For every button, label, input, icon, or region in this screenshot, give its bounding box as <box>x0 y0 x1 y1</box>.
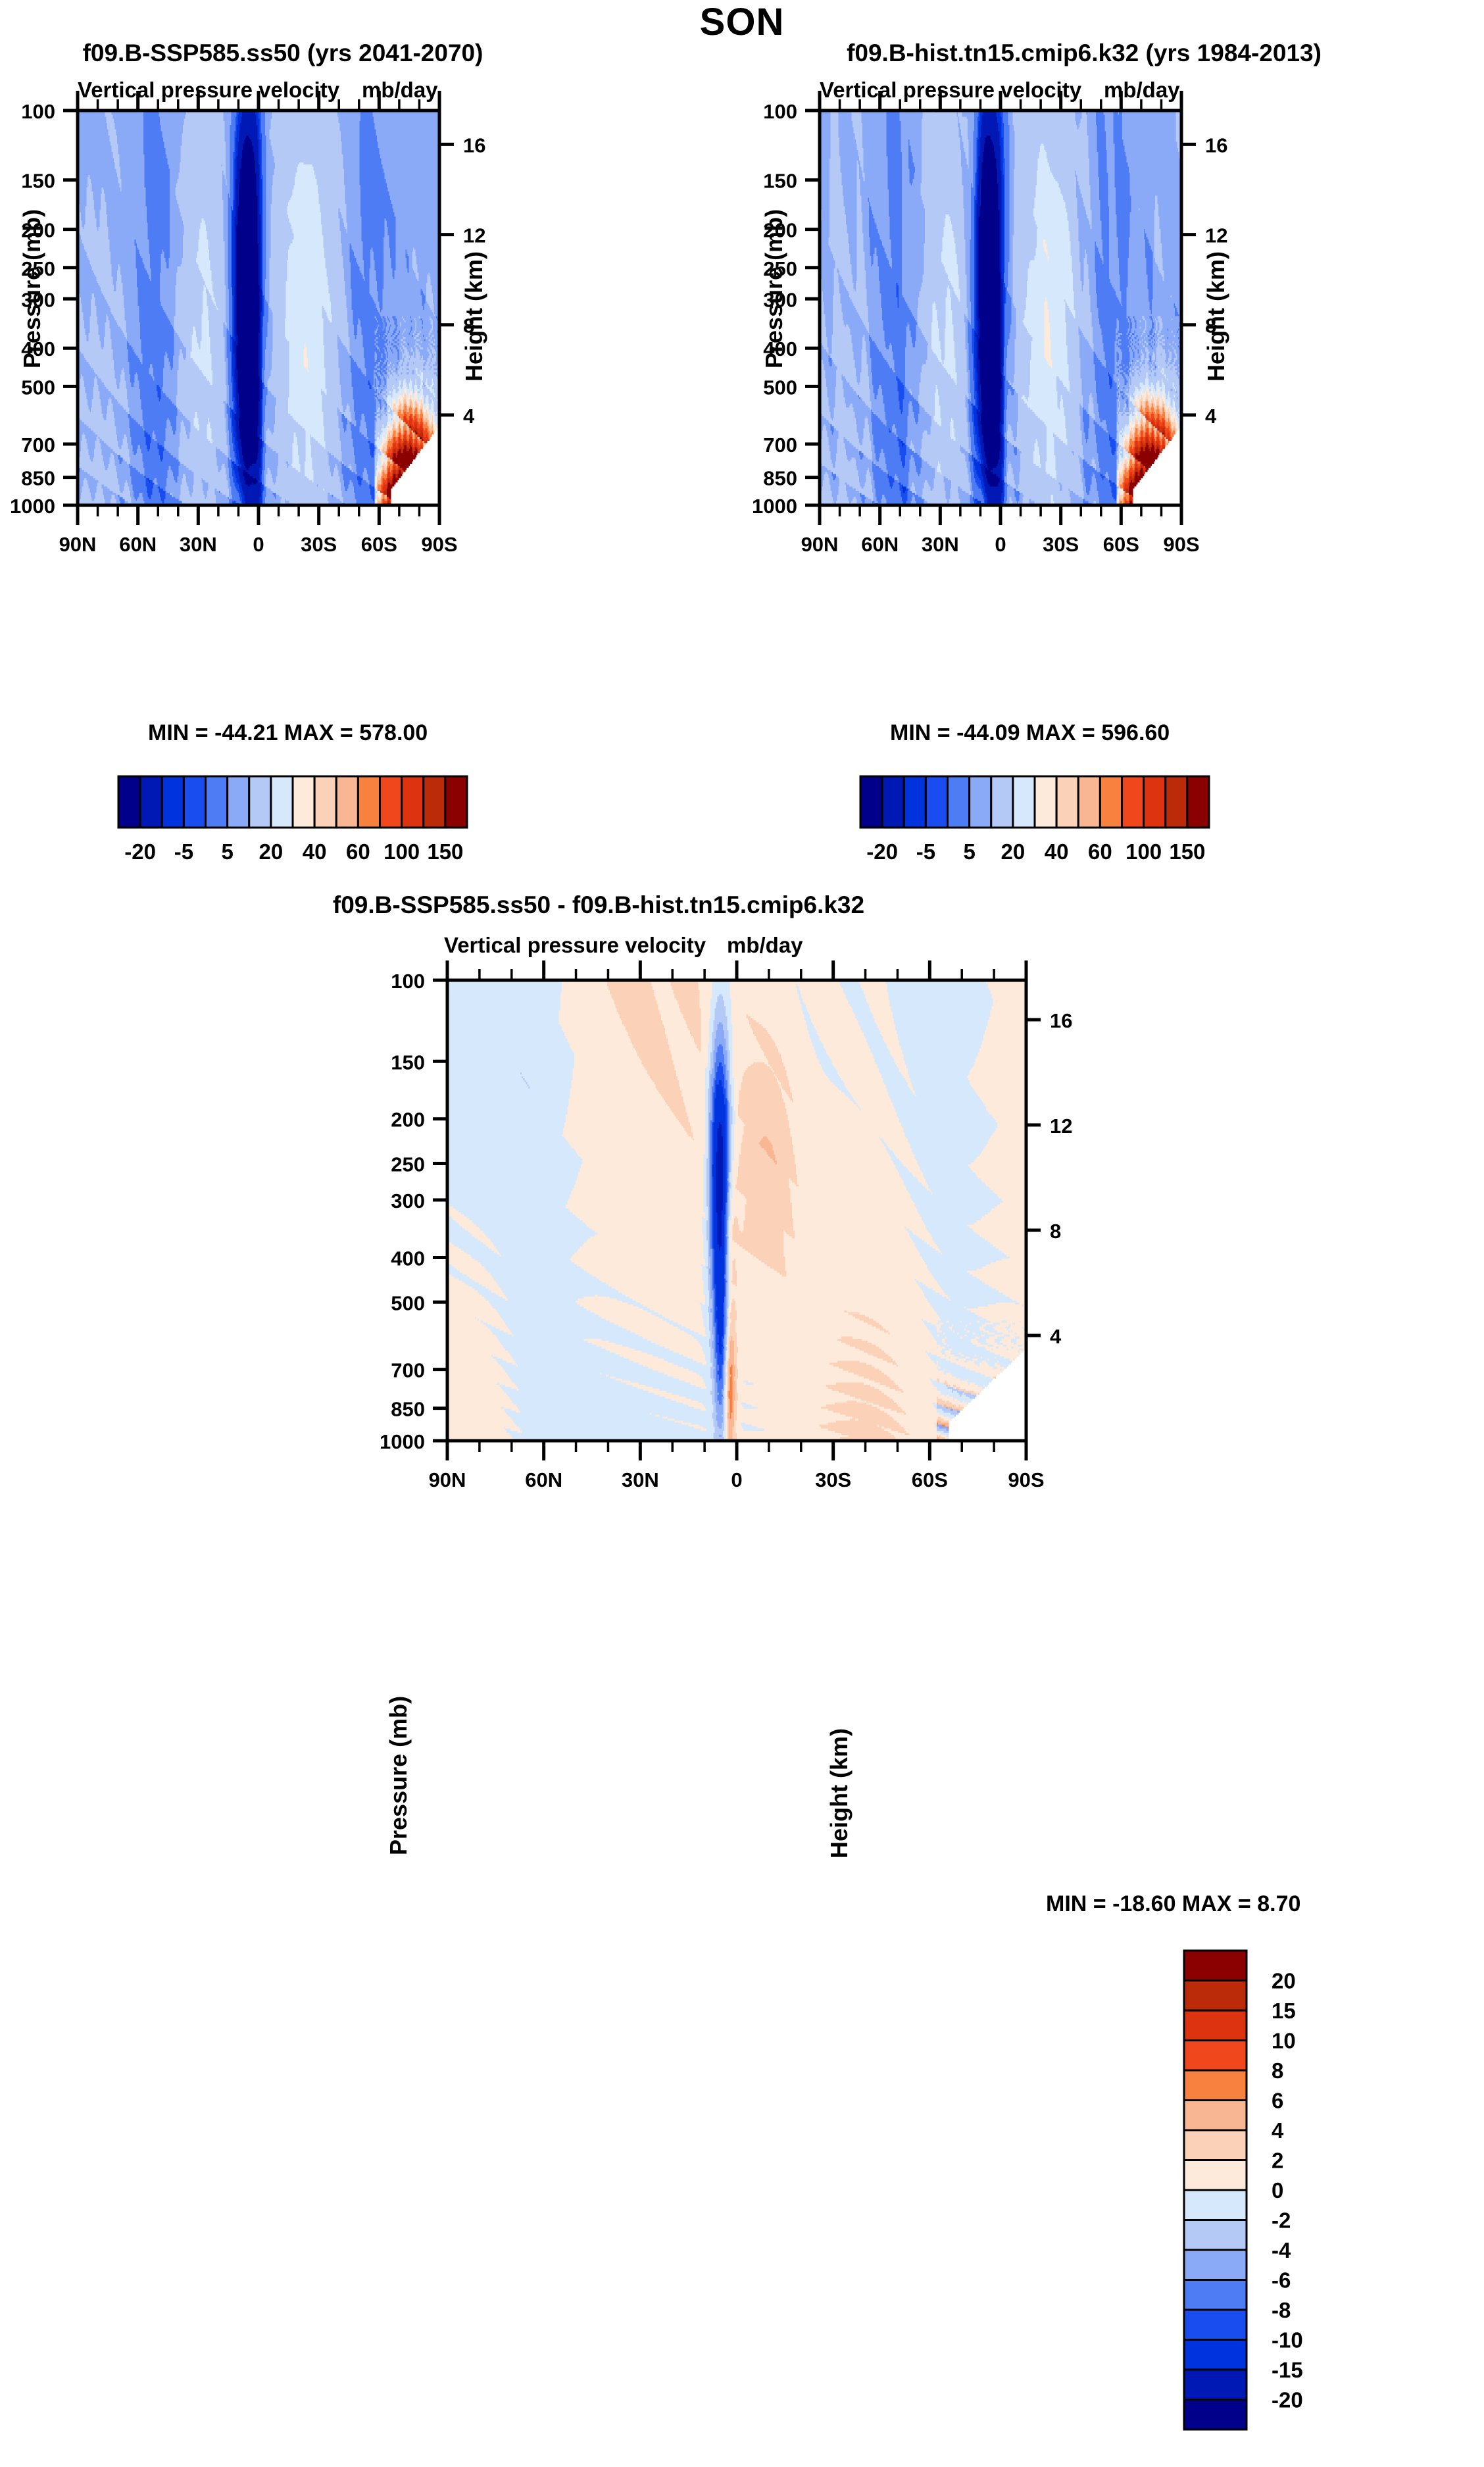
contour-plot-top-right: 100150200250300400500700850100016128490N… <box>742 66 1484 763</box>
panel-top-left: f09.B-SSP585.ss50 (yrs 2041-2070) Vertic… <box>0 0 742 882</box>
panel-minmax: MIN = -18.60 MAX = 8.70 <box>1046 1891 1300 1917</box>
colorbar-bottom-diff[interactable]: 20151086420-2-4-6-8-10-15-20 <box>1164 1941 1441 2467</box>
colorbar-top-right[interactable]: -20-55204060100150 <box>814 770 1222 875</box>
panel-title: f09.B-hist.tn15.cmip6.k32 (yrs 1984-2013… <box>735 39 1433 67</box>
panel-top-right: f09.B-hist.tn15.cmip6.k32 (yrs 1984-2013… <box>742 0 1484 882</box>
panel-title: f09.B-SSP585.ss50 (yrs 2041-2070) <box>0 39 566 67</box>
figure-root: SON f09.B-SSP585.ss50 (yrs 2041-2070) Ve… <box>0 0 1484 1568</box>
panel-bottom-diff: f09.B-SSP585.ss50 - f09.B-hist.tn15.cmip… <box>0 875 1484 1568</box>
colorbar-top-left[interactable]: -20-55204060100150 <box>72 770 480 875</box>
height-axis-title: Height (km) <box>826 1728 853 1858</box>
contour-plot-bottom-diff: 100150200250300400500700850100016128490N… <box>368 875 1263 1568</box>
pressure-axis-title: Pressure (mb) <box>385 1696 412 1855</box>
contour-plot-top-left: 100150200250300400500700850100016128490N… <box>0 66 742 763</box>
